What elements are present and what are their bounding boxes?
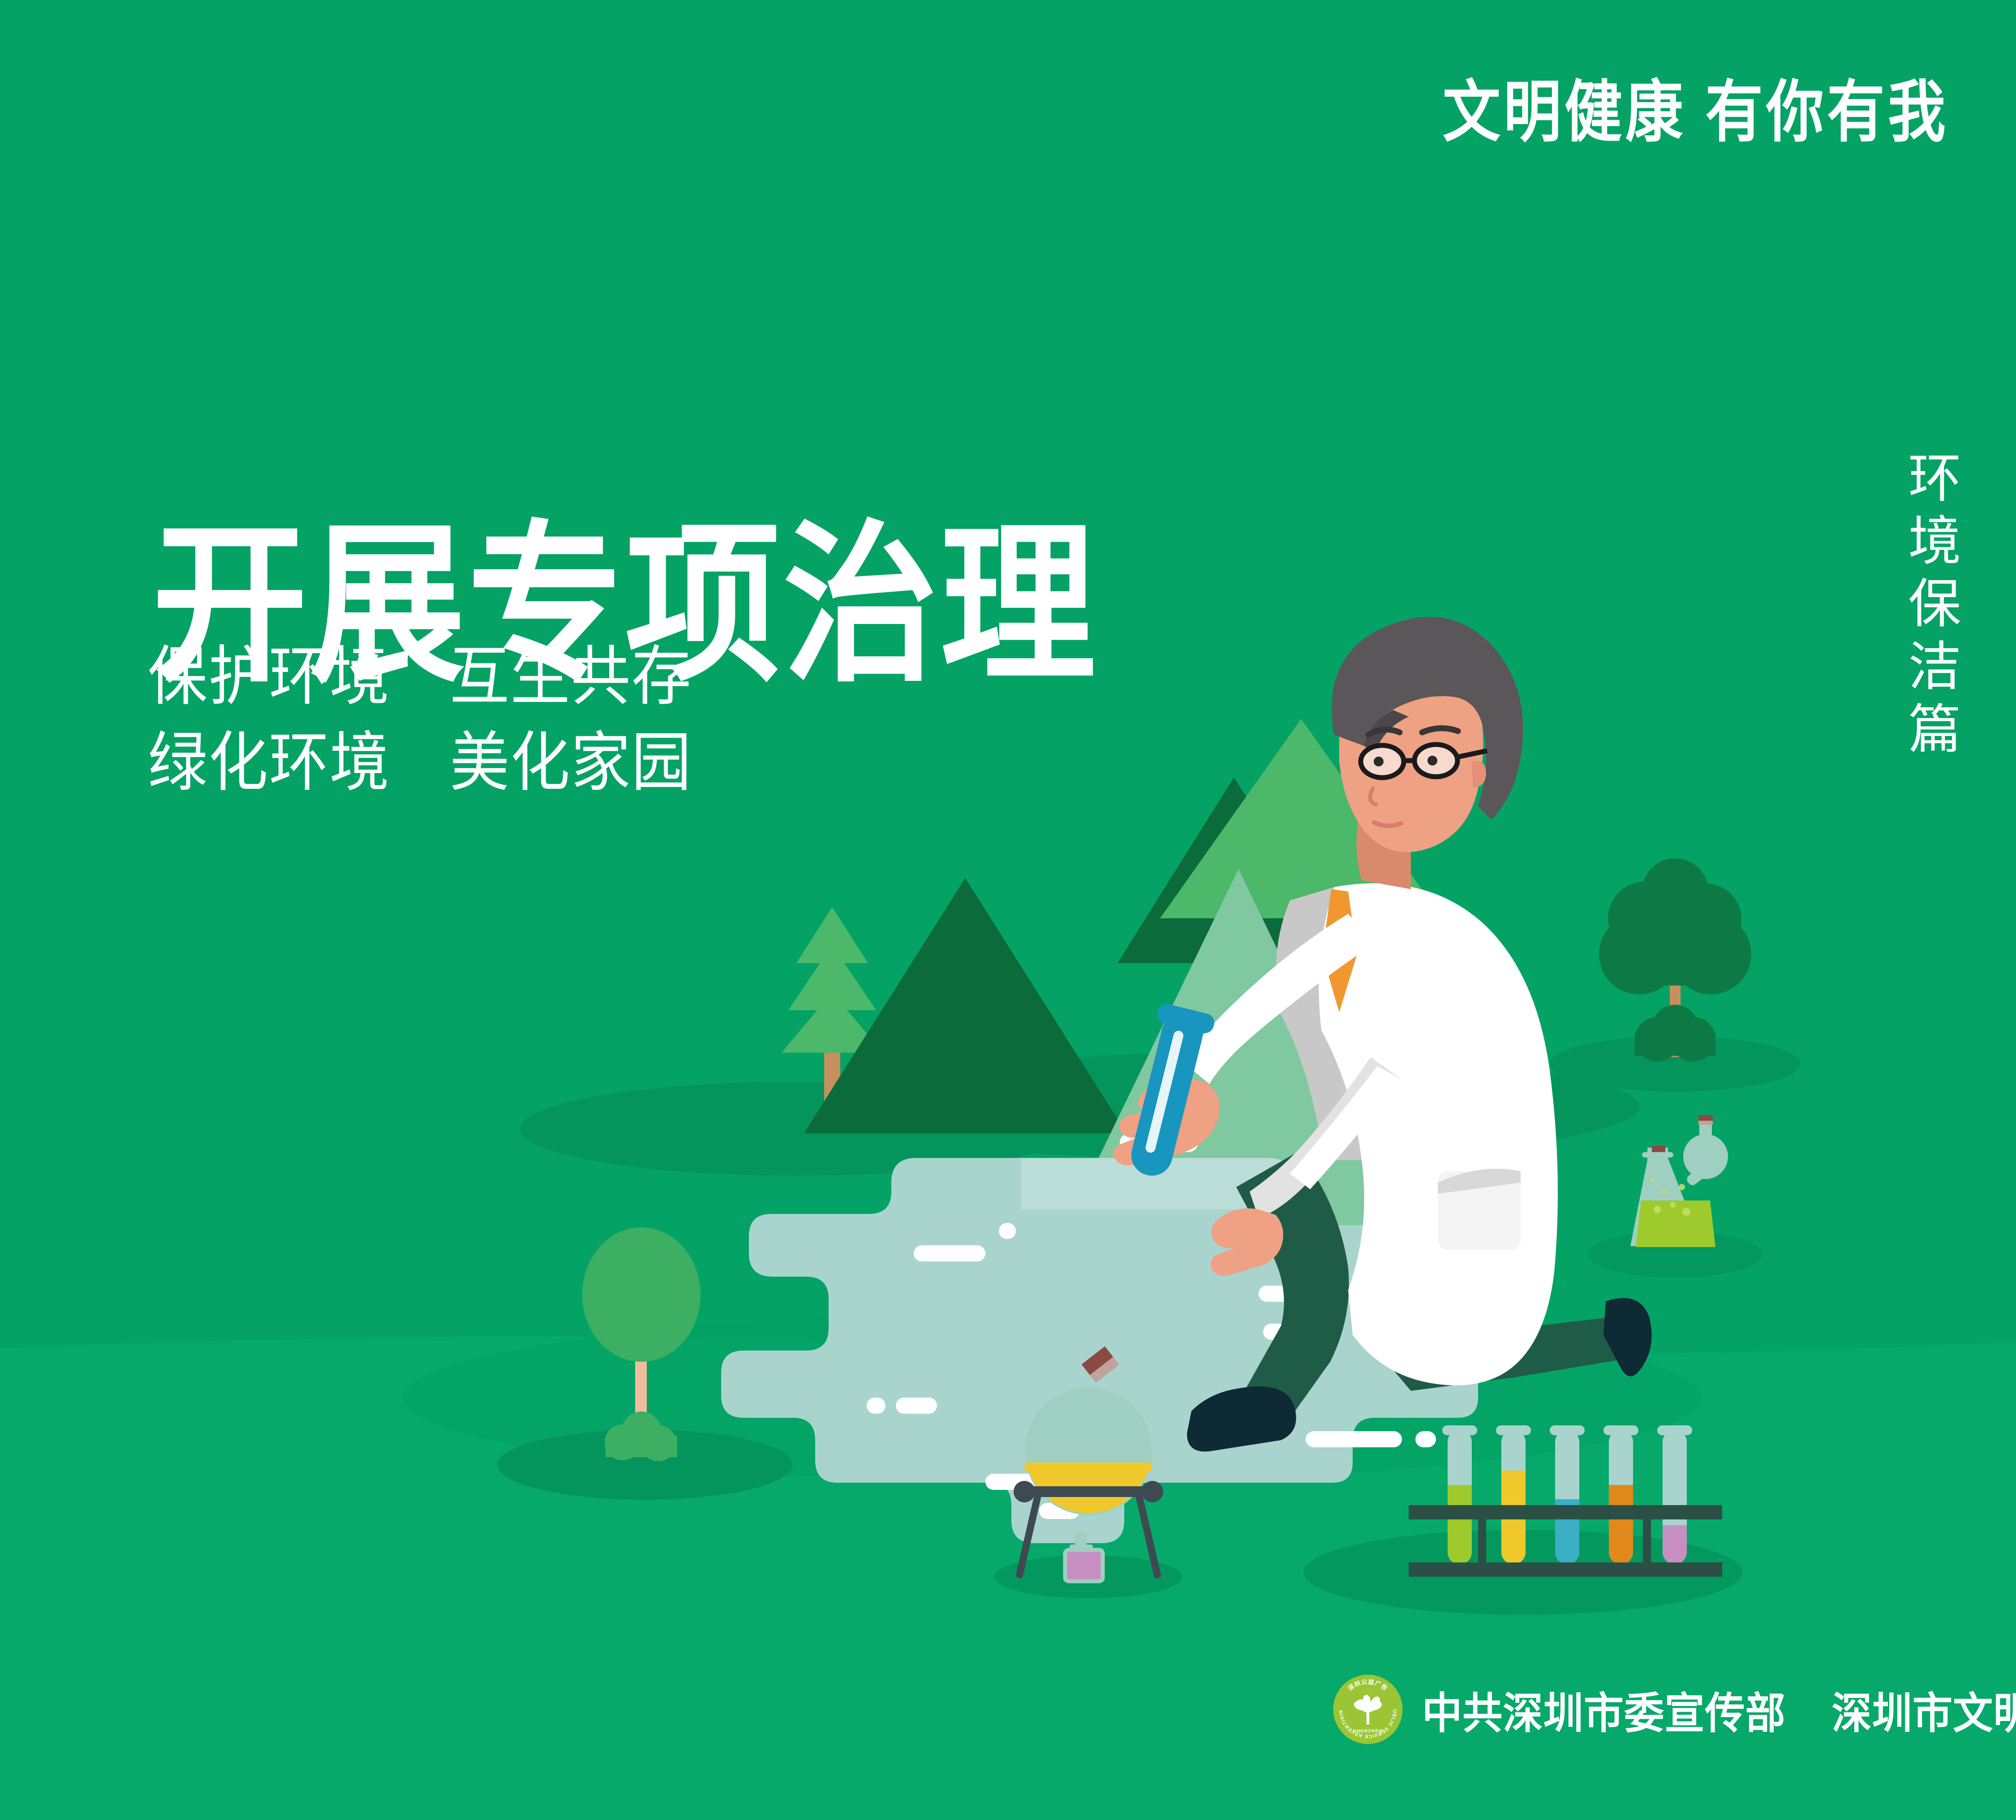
- footer-organizations: 中共深圳市委宣传部 深圳市文明办: [1422, 1678, 2016, 1741]
- subtitle-2-left: 绿化环境: [148, 726, 390, 799]
- subtitle-1-right: 互生共存: [450, 640, 692, 713]
- subtitle-line-2: 绿化环境 美化家园: [148, 730, 692, 795]
- series-vertical-label: 环境保洁篇: [1897, 450, 1956, 764]
- footer-bar: 深圳公益广告 PUBLIC SERVICE ADVERTISING SHENZH…: [1333, 1674, 2016, 1745]
- illustration-scene: [0, 0, 2016, 1820]
- top-slogan: 文明健康 有你有我: [1443, 78, 1949, 146]
- cloud-tree-right: [1550, 858, 1801, 1092]
- footer-org-primary: 中共深圳市委宣传部: [1422, 1690, 1786, 1738]
- svg-text:SHENZHEN: SHENZHEN: [1353, 1729, 1383, 1734]
- erlenmeyer-flask-with-sidearm: [1588, 1115, 1762, 1278]
- scientist-head: [1332, 617, 1523, 889]
- poster-canvas: 文明健康 有你有我 开展专项治理 保护环境 互生共存 绿化环境 美化家园 环境保…: [0, 0, 2016, 1820]
- subtitle-2-right: 美化家园: [450, 726, 692, 799]
- subtitle-1-left: 保护环境: [148, 640, 390, 713]
- shenzhen-public-service-advertising-logo-icon: 深圳公益广告 PUBLIC SERVICE ADVERTISING SHENZH…: [1333, 1674, 1403, 1745]
- subtitle-line-1: 保护环境 互生共存: [148, 644, 692, 709]
- footer-org-secondary: 深圳市文明办: [1832, 1690, 2016, 1738]
